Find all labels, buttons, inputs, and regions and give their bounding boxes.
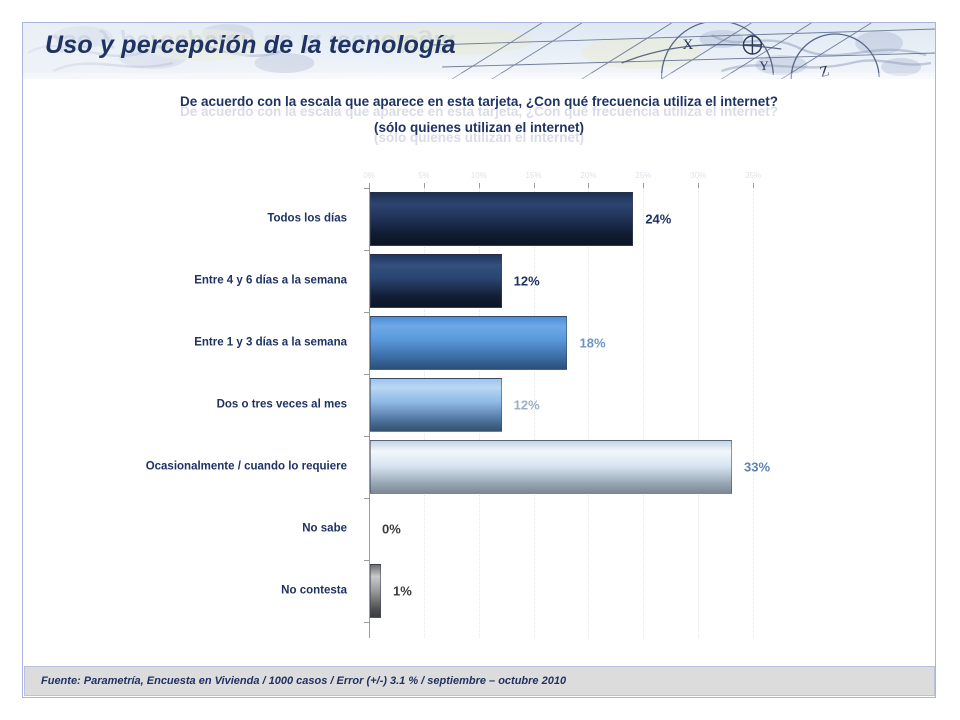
category-label: Todos los días bbox=[47, 212, 347, 227]
page-title: Uso y percepción de la tecnología bbox=[45, 31, 456, 60]
footer-band: Fuente: Parametría, Encuesta en Vivienda… bbox=[24, 666, 935, 696]
bar[interactable] bbox=[370, 316, 567, 370]
bar-value-label: 12% bbox=[514, 274, 540, 289]
bar-value-label: 24% bbox=[645, 212, 671, 227]
chart-title-block: De acuerdo con la escala que aparece en … bbox=[23, 89, 935, 141]
category-label: Entre 1 y 3 días a la semana bbox=[47, 336, 347, 351]
x-tick-label: 20% bbox=[580, 171, 596, 180]
category-label: Entre 4 y 6 días a la semana bbox=[47, 274, 347, 289]
x-tick-label: 30% bbox=[690, 171, 706, 180]
bar[interactable] bbox=[370, 440, 732, 494]
letter-y-mark: Y bbox=[759, 58, 769, 73]
category-label: Ocasionalmente / cuando lo requiere bbox=[47, 460, 347, 475]
category-label: No contesta bbox=[47, 584, 347, 599]
bar[interactable] bbox=[370, 378, 502, 432]
chart-row: Todos los días24% bbox=[23, 188, 937, 250]
x-tick-label: 0% bbox=[363, 171, 375, 180]
chart-row: Dos o tres veces al mes12% bbox=[23, 374, 937, 436]
header-banner: X Y Z Uso y percepción de la tecnología … bbox=[23, 23, 935, 79]
chart-row: Entre 4 y 6 días a la semana12% bbox=[23, 250, 937, 312]
chart-title: De acuerdo con la escala que aparece en … bbox=[23, 89, 935, 115]
category-label: Dos o tres veces al mes bbox=[47, 398, 347, 413]
source-note: Fuente: Parametría, Encuesta en Vivienda… bbox=[25, 675, 566, 687]
chart-row: Ocasionalmente / cuando lo requiere33% bbox=[23, 436, 937, 498]
chart-subtitle-text: (sólo quienes utilizan el internet) bbox=[374, 120, 584, 135]
bar[interactable] bbox=[370, 254, 502, 308]
category-label: No sabe bbox=[47, 522, 347, 537]
bar-value-label: 1% bbox=[393, 584, 412, 599]
x-tick-label: 35% bbox=[745, 171, 761, 180]
bar[interactable] bbox=[370, 564, 381, 618]
x-tick-label: 10% bbox=[471, 171, 487, 180]
chart-title-text: De acuerdo con la escala que aparece en … bbox=[180, 94, 778, 109]
y-axis-line bbox=[369, 188, 370, 622]
crosshair-circle-icon bbox=[743, 36, 761, 54]
x-tick-label: 25% bbox=[635, 171, 651, 180]
slide: X Y Z Uso y percepción de la tecnología … bbox=[22, 22, 936, 698]
x-tick-label: 5% bbox=[418, 171, 430, 180]
chart-row: Entre 1 y 3 días a la semana18% bbox=[23, 312, 937, 374]
letter-x-mark: X bbox=[683, 37, 694, 53]
chart-row: No sabe0% bbox=[23, 498, 937, 560]
axis-end-tick bbox=[364, 622, 370, 623]
bar-chart: 0%5%10%15%20%25%30%35% Todos los días24%… bbox=[23, 163, 937, 663]
bar-value-label: 18% bbox=[579, 336, 605, 351]
bar-value-label: 12% bbox=[514, 398, 540, 413]
x-tick-label: 15% bbox=[526, 171, 542, 180]
bar[interactable] bbox=[370, 192, 633, 246]
chart-row: No contesta1% bbox=[23, 560, 937, 622]
bar-value-label: 33% bbox=[744, 460, 770, 475]
chart-subtitle: (sólo quienes utilizan el internet) (sól… bbox=[23, 115, 935, 141]
x-axis-tick-labels: 0%5%10%15%20%25%30%35% bbox=[369, 171, 753, 185]
bar-value-label: 0% bbox=[382, 522, 401, 537]
